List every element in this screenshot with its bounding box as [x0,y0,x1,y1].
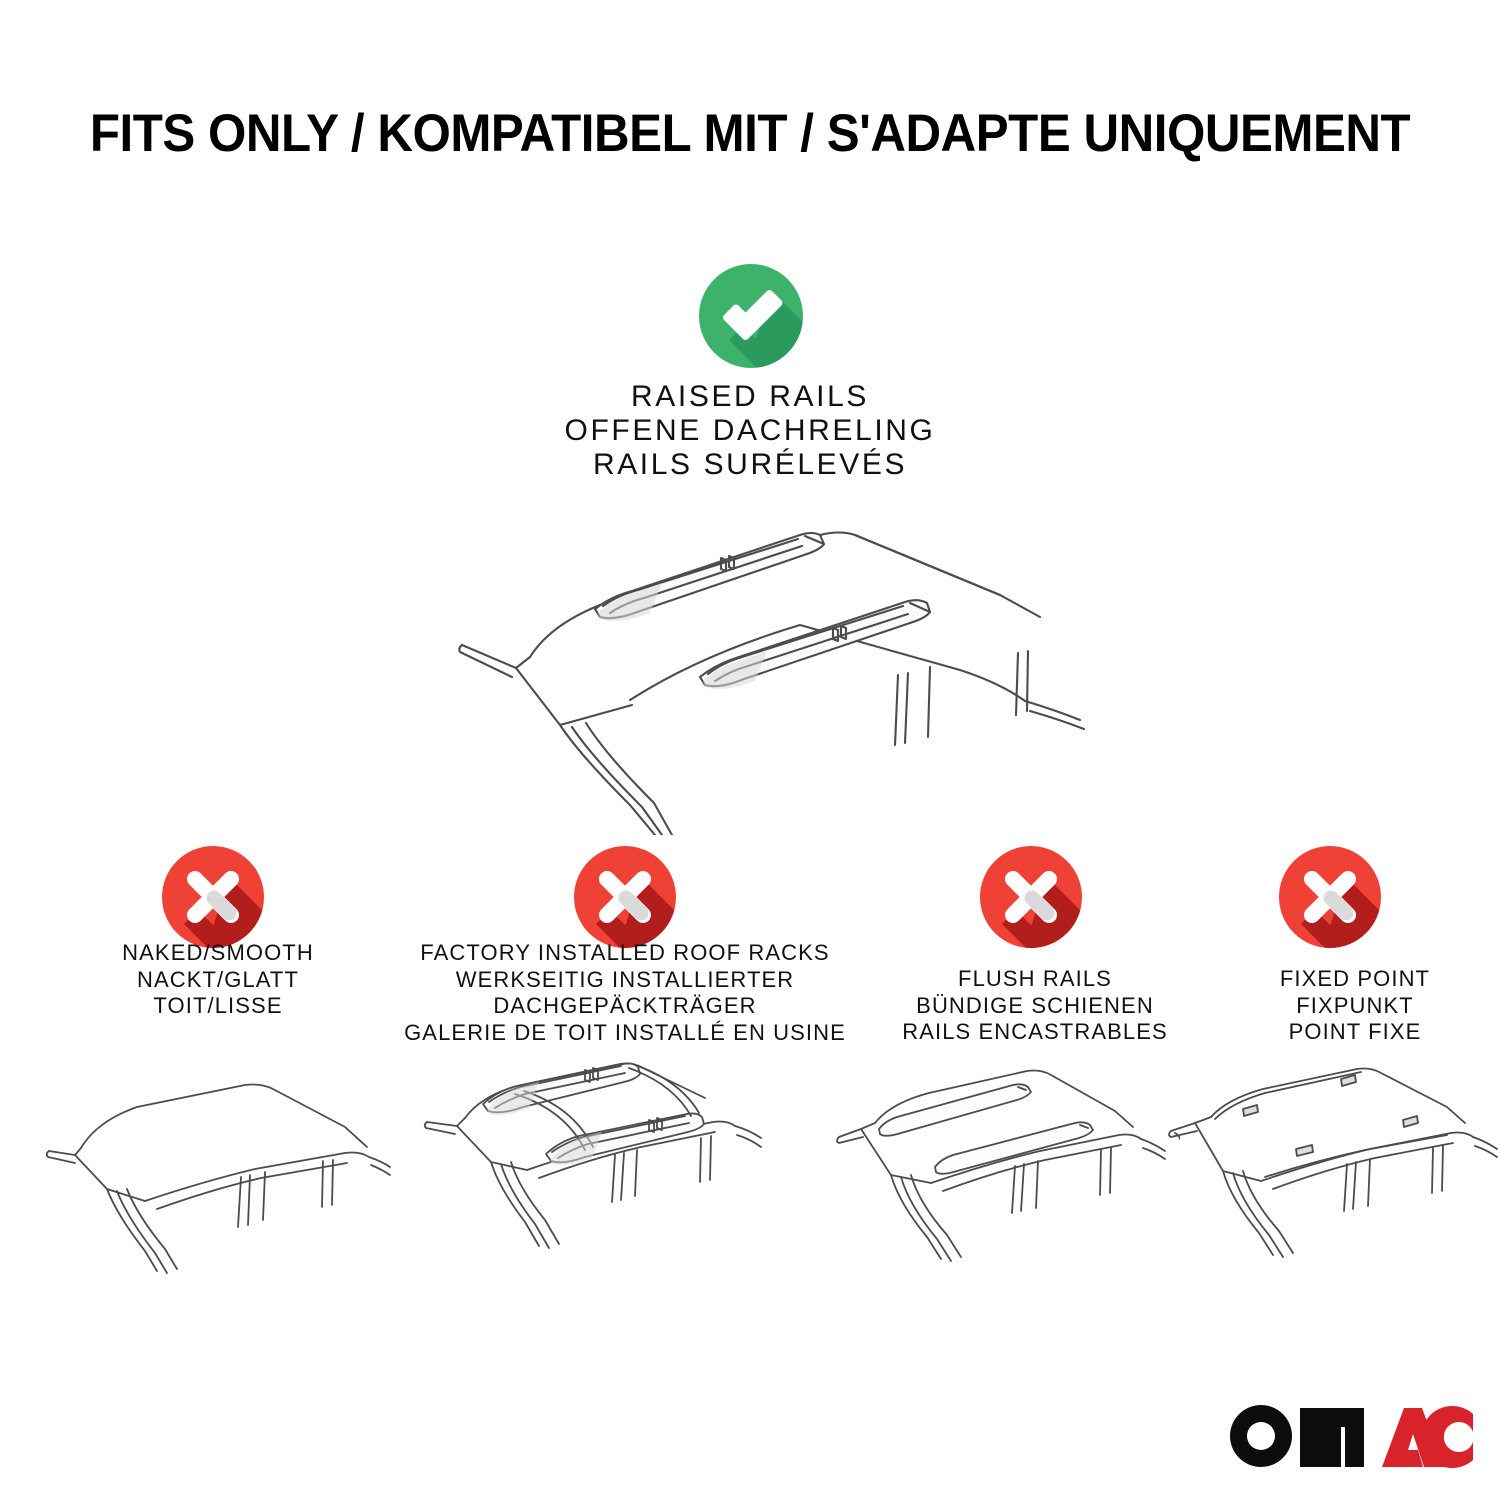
car-roof-factory-racks-illustration [405,1060,775,1310]
caption-line: FLUSH RAILS [855,966,1215,993]
logo-letter-m [1300,1408,1364,1467]
caption-line: FIXPUNKT [1215,993,1495,1020]
caption-line: RAILS SURÉLEVÉS [330,448,1170,482]
caption-line: DACHGEPÄCKTRÄGER [385,993,865,1020]
caption-line: BÜNDIGE SCHIENEN [855,993,1215,1020]
caption-line: RAISED RAILS [330,380,1170,414]
caption-line: OFFENE DACHRELING [330,414,1170,448]
cross-circle-icon [574,846,676,948]
caption-line: TOIT/LISSE [28,993,408,1020]
car-roof-raised-rails-illustration [400,505,1100,835]
incompatible-caption-0: NAKED/SMOOTH NACKT/GLATT TOIT/LISSE [28,940,408,1020]
caption-line: NACKT/GLATT [28,967,408,994]
car-roof-naked-smooth-illustration [45,1065,395,1310]
caption-line: POINT FIXE [1215,1019,1495,1046]
car-roof-flush-rails-illustration [835,1065,1180,1310]
fitment-infographic: FITS ONLY / KOMPATIBEL MIT / S'ADAPTE UN… [0,0,1500,1500]
page-title: FITS ONLY / KOMPATIBEL MIT / S'ADAPTE UN… [53,104,1448,164]
caption-line: RAILS ENCASTRABLES [855,1019,1215,1046]
caption-line: WERKSEITIG INSTALLIERTER [385,967,865,994]
cross-circle-icon [1279,846,1381,948]
car-roof-fixed-point-illustration [1165,1065,1500,1310]
compatible-caption: RAISED RAILS OFFENE DACHRELING RAILS SUR… [330,380,1170,482]
check-circle-icon [699,264,803,368]
cross-circle-icon [162,846,264,948]
caption-line: NAKED/SMOOTH [28,940,408,967]
caption-line: FACTORY INSTALLED ROOF RACKS [385,940,865,967]
incompatible-caption-3: FIXED POINT FIXPUNKT POINT FIXE [1215,966,1495,1046]
incompatible-caption-2: FLUSH RAILS BÜNDIGE SCHIENEN RAILS ENCAS… [855,966,1215,1046]
omac-logo [1228,1404,1473,1468]
cross-circle-icon [980,846,1082,948]
caption-line: GALERIE DE TOIT INSTALLÉ EN USINE [385,1020,865,1047]
incompatible-caption-1: FACTORY INSTALLED ROOF RACKS WERKSEITIG … [385,940,865,1046]
caption-line: FIXED POINT [1215,966,1495,993]
logo-letter-o [1230,1405,1292,1467]
